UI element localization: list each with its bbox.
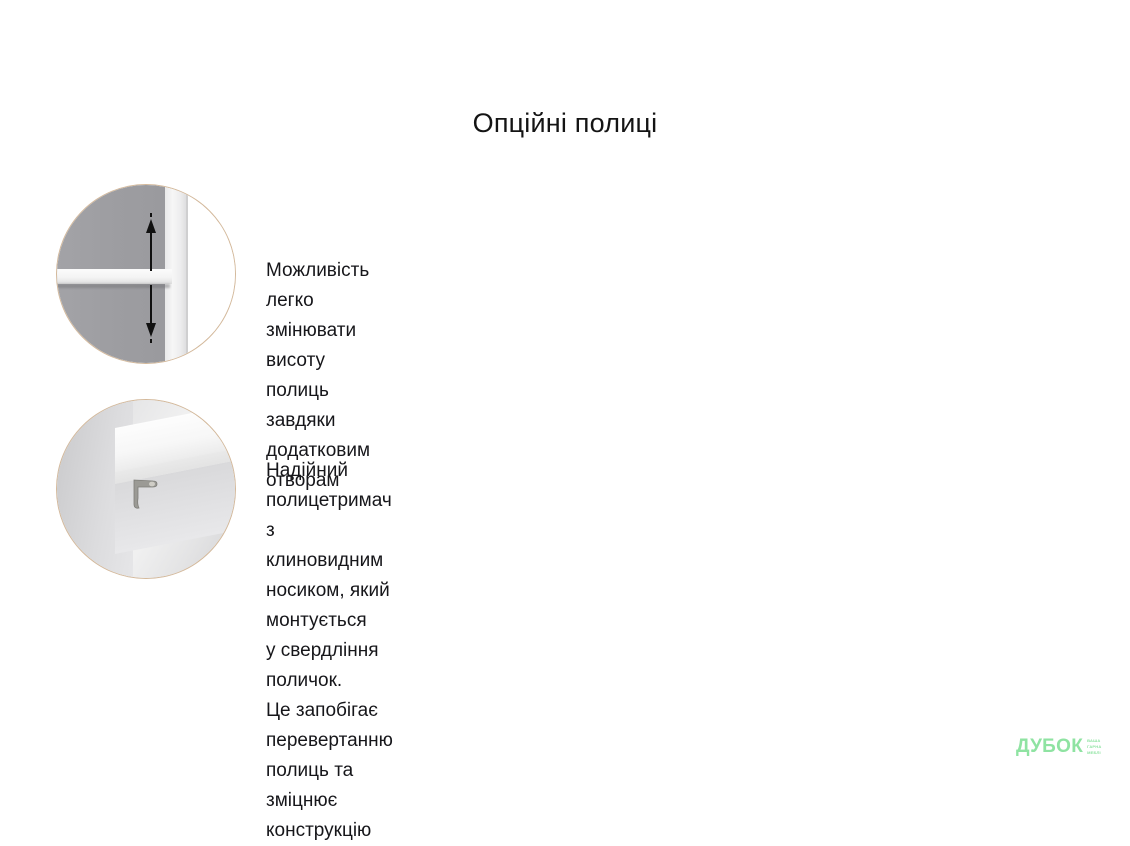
- brand-name: ДУБОК: [1016, 737, 1083, 756]
- watermark-logo: ДУБОК ваша гарна меблі: [1016, 737, 1101, 756]
- arrow-down-icon: [145, 285, 157, 343]
- tagline-line-1: ваша: [1087, 738, 1101, 743]
- photo-2-inner: [57, 400, 235, 578]
- photo-1-inner: [57, 185, 235, 363]
- shelf-height-adjustment-photo: [57, 185, 235, 363]
- page-title: Опційні полиці: [0, 108, 1130, 139]
- shelf-holder-photo: [57, 400, 235, 578]
- shelf-holder-pin-icon: [129, 478, 159, 510]
- tagline-line-2: гарна: [1087, 744, 1101, 749]
- cabinet-edge-line: [186, 185, 188, 363]
- brand-tagline: ваша гарна меблі: [1087, 738, 1101, 755]
- slide-root: Опційні полиці: [0, 0, 1130, 773]
- white-shelf: [57, 269, 172, 284]
- tagline-line-3: меблі: [1087, 750, 1101, 755]
- feature-2-description: Надійний полицетримач з клиновидним носи…: [266, 456, 393, 846]
- arrow-up-icon: [145, 213, 157, 271]
